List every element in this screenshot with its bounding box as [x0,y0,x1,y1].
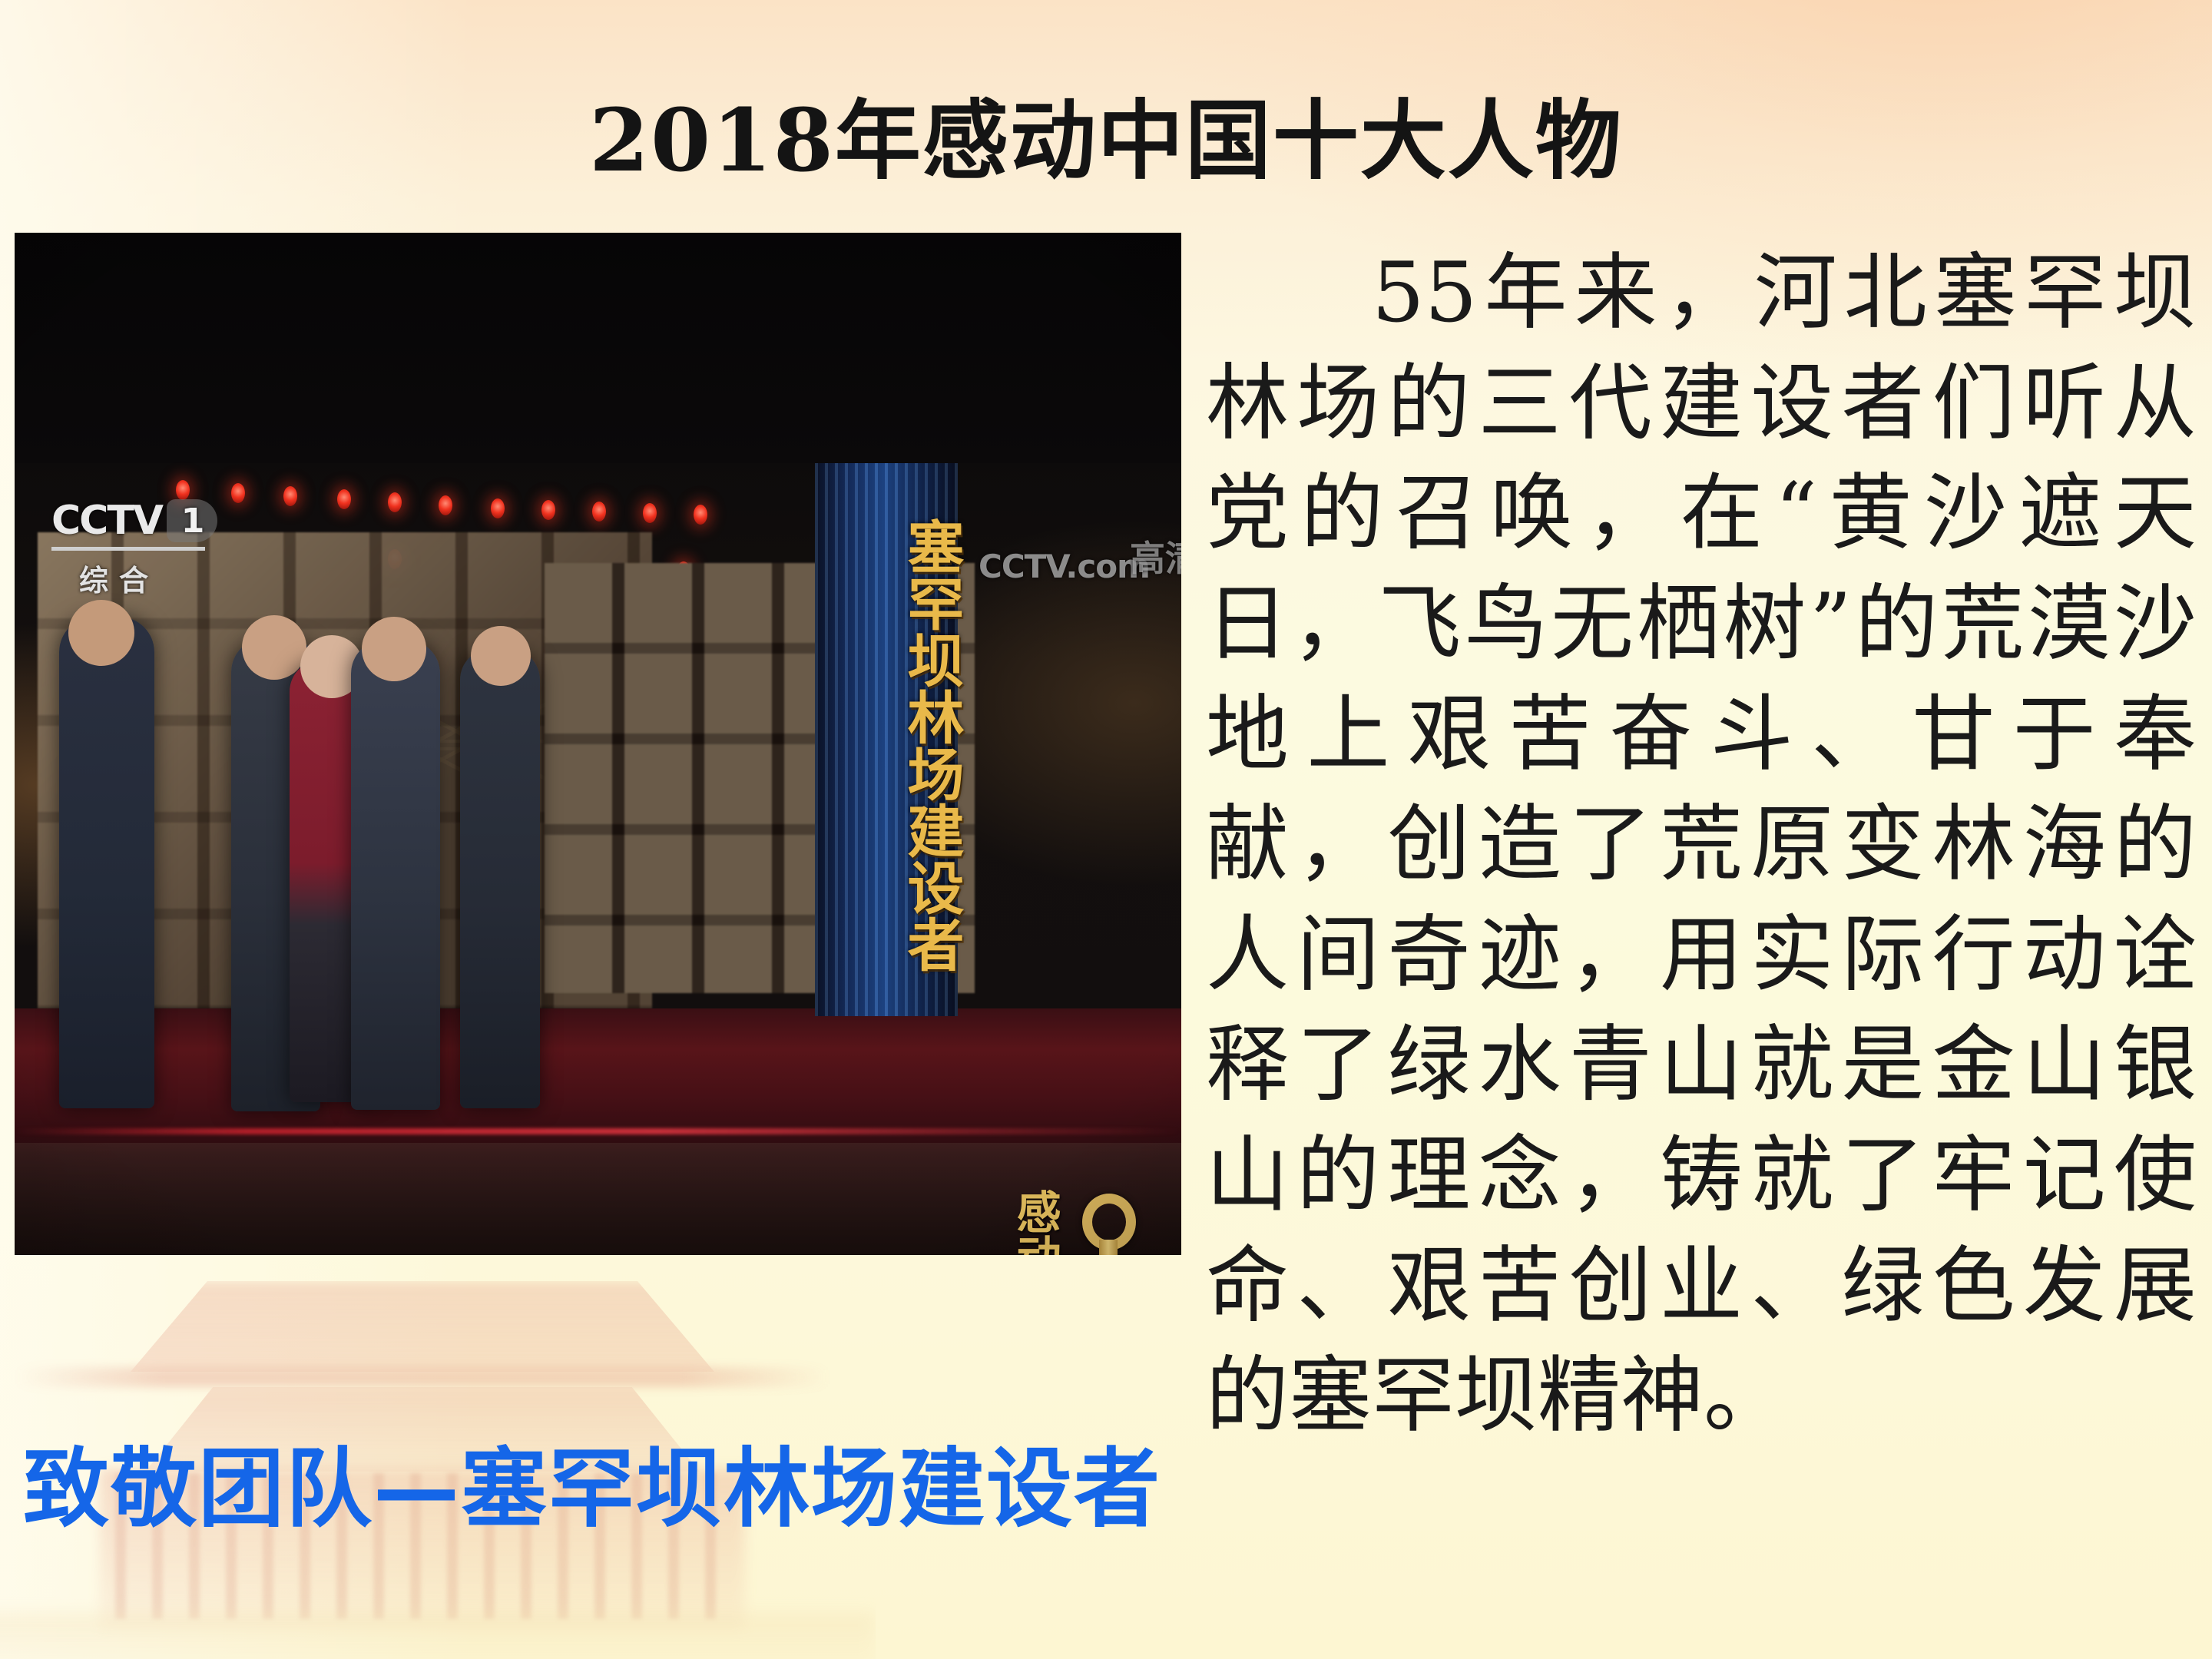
photo-vertical-banner: 塞罕坝林场建设者 [815,463,958,1016]
cctv-com-watermark: CCTV.com [979,548,1150,585]
cctv-wordmark: CCTV [51,498,162,544]
slide-title: 2018年感动中国十大人物 [0,91,2212,192]
photo-person-5 [460,649,540,1108]
stage-photo: 塞罕坝林场建设者 CCTV 1 综合 CCTV.com 高清 感动中国 [15,233,1181,1255]
photo-person-5-head [471,626,531,686]
photo-person-4-head [362,617,426,681]
emblem-text: 感动中国 [1013,1189,1056,1255]
cctv1-channel-logo: CCTV 1 综合 [51,498,236,613]
photo-person-4 [351,640,440,1110]
photo-floor-reflection [15,1143,1181,1255]
photo-stage-ceiling [15,233,1181,463]
gandong-zhongguo-emblem: 感动中国 [1013,1189,1121,1255]
photo-banner-text: 塞罕坝林场建设者 [815,480,958,1010]
slide-caption: 致敬团队—塞罕坝林场建设者 [23,1438,1161,1541]
watermark-eave-line [15,1367,829,1387]
trophy-icon [1079,1194,1139,1255]
watermark-plaza [0,1613,876,1659]
body-paragraph: 55年来，河北塞罕坝林场的三代建设者们听从党的召唤，在“黄沙遮天日，飞鸟无栖树”… [1206,238,2197,1452]
cctv1-logo-row: CCTV 1 [51,498,236,544]
photo-stage-floor-edge-light [15,1128,1181,1134]
cctv-logo-underline [51,547,205,551]
cctv-channel-number: 1 [167,499,217,542]
photo-person-1 [59,617,154,1108]
slide-canvas: 2018年感动中国十大人物 [0,0,2212,1659]
cctv-channel-subtitle: 综合 [51,557,236,599]
watermark-roof-upper [38,1281,806,1372]
cctv-hd-watermark: 高清 [1130,531,1181,581]
